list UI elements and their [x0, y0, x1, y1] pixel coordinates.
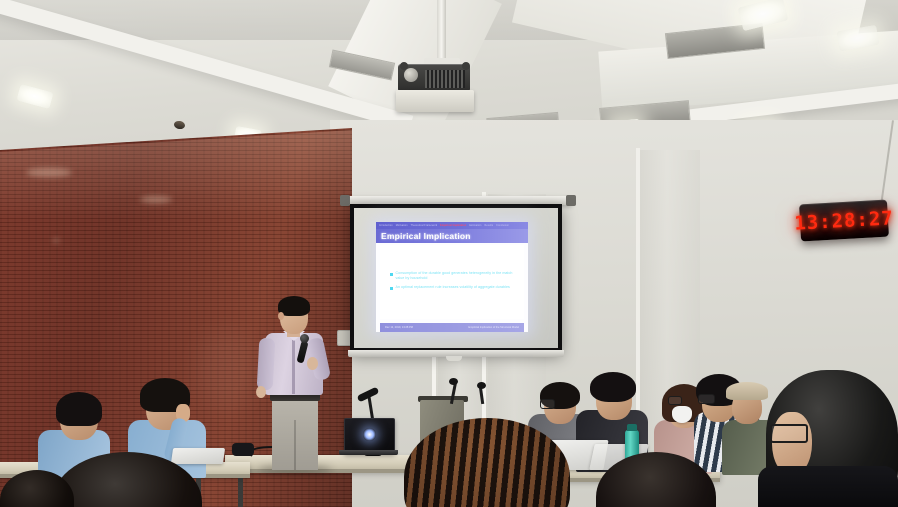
slide-nav-item: Introduction: [379, 224, 393, 227]
projection-screen-pull-handle[interactable]: [446, 356, 462, 361]
slide-nav-item: Estimation: [469, 224, 481, 227]
glasses-icon: [668, 396, 682, 405]
slide-title: Empirical Implication: [381, 231, 471, 241]
projected-slide: Introduction Motivation Theoretical Fram…: [376, 222, 528, 332]
slide-footer-right: Empirical Implication of the Structural …: [468, 326, 519, 329]
slide-footer-left: Dec 12, 2019, 13:28 PM: [385, 326, 413, 329]
presenter-left-hand: [256, 386, 266, 398]
projector-mount-rod: [437, 0, 446, 62]
water-bottle-cap: [627, 424, 637, 431]
projector-vent: [425, 70, 465, 88]
glasses-icon: [540, 399, 555, 409]
slide-bullet: An optimal replacement rule increases vo…: [390, 285, 516, 290]
desk-equipment-box: [232, 443, 254, 456]
projector-housing: [396, 90, 474, 112]
lecture-hall-photo: Introduction Motivation Theoretical Fram…: [0, 0, 898, 507]
slide-title-bar: Empirical Implication: [376, 229, 528, 243]
cap: [726, 382, 768, 400]
glasses-icon: [698, 394, 715, 404]
presenter-right-hand: [307, 357, 318, 370]
recessed-light: [16, 84, 53, 109]
clock-time-display: 13:28:27: [794, 207, 895, 235]
podium-laptop-keyboard[interactable]: [339, 450, 398, 455]
slide-bullet-text: An optimal replacement rule increases vo…: [396, 285, 510, 290]
desk-microphone-head-icon: [449, 378, 458, 385]
desk-microphone-head-icon: [477, 382, 486, 389]
face-mask: [672, 406, 692, 423]
slide-nav-item: Motivation: [396, 224, 408, 227]
bullet-marker-icon: [390, 287, 393, 290]
slide-nav-item: Results: [484, 224, 493, 227]
foreground-shoulders: [758, 466, 898, 507]
presenter-left-arm: [257, 338, 276, 391]
slide-nav-bar: Introduction Motivation Theoretical Fram…: [376, 222, 528, 229]
slide-bullet-text: Consumption of the durable good generate…: [396, 271, 517, 280]
wall-clock: 13:28:27: [799, 200, 889, 242]
projector-lens-icon: [404, 68, 418, 82]
slide-nav-item: Conclusion: [496, 224, 509, 227]
glasses-icon: [770, 424, 808, 443]
slide-nav-item-active: Empirical Implication: [440, 224, 466, 227]
slide-nav-item: Theoretical Framework: [411, 224, 438, 227]
laptop-screen-glow: [363, 428, 376, 441]
slide-body: Consumption of the durable good generate…: [380, 245, 524, 319]
slide-footer: Dec 12, 2019, 13:28 PM Empirical Implica…: [380, 323, 524, 332]
ceiling-sensor-icon: [173, 120, 185, 130]
slide-bullet: Consumption of the durable good generate…: [390, 271, 516, 280]
bullet-marker-icon: [390, 273, 393, 276]
handheld-microphone-head-icon: [300, 334, 309, 343]
audience-laptop[interactable]: [171, 448, 225, 464]
